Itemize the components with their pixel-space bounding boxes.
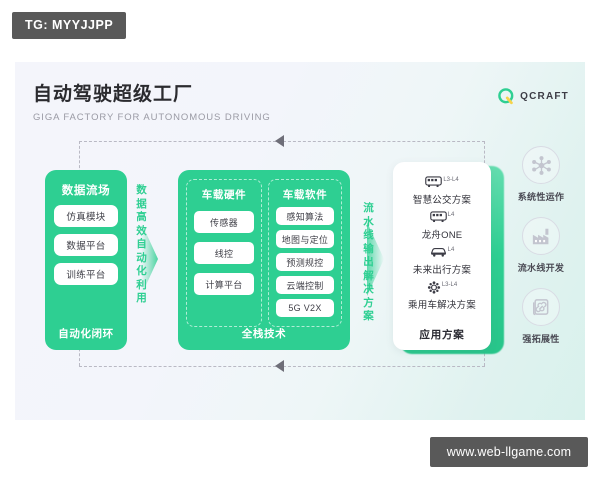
solution-name-1: 龙舟ONE xyxy=(393,227,491,241)
solution-name-0: 智慧公交方案 xyxy=(393,192,491,206)
solution-item-1[interactable]: L4 龙舟ONE xyxy=(393,211,491,241)
qcraft-q-icon xyxy=(498,88,515,105)
chip-hardware-1[interactable]: 线控 xyxy=(194,242,254,264)
solution-item-3[interactable]: L3-L4 乘用车解决方案 xyxy=(393,281,491,311)
panel-vehicle-stack-footer: 全栈技术 xyxy=(178,326,350,341)
chip-data-field-0[interactable]: 仿真模块 xyxy=(54,205,118,227)
slide-header: 自动驾驶超级工厂 GIGA FACTORY FOR AUTONOMOUS DRI… xyxy=(33,84,271,123)
solution-level-0: L3-L4 xyxy=(443,177,458,183)
solution-level-3: L3-L4 xyxy=(442,282,457,288)
page-title: 自动驾驶超级工厂 xyxy=(33,84,271,106)
brand-logo: QCRAFT xyxy=(498,88,569,105)
feature-label-0: 系统性运作 xyxy=(505,190,577,203)
brand-name: QCRAFT xyxy=(520,91,569,102)
chip-data-field-1[interactable]: 数据平台 xyxy=(54,234,118,256)
chip-hardware-2[interactable]: 计算平台 xyxy=(194,273,254,295)
feature-badge-2[interactable]: 强拓展性 xyxy=(505,288,577,345)
subpanel-software-title: 车载软件 xyxy=(269,187,341,202)
car-icon xyxy=(430,246,447,258)
page-subtitle: GIGA FACTORY FOR AUTONOMOUS DRIVING xyxy=(33,112,271,123)
subpanel-vehicle-software: 车载软件 感知算法 地图与定位 预测规控 云端控制 5G V2X xyxy=(268,179,342,327)
feature-badge-1[interactable]: 流水线开发 xyxy=(505,217,577,274)
factory-icon xyxy=(522,217,560,255)
feature-badge-0[interactable]: 系统性运作 xyxy=(505,146,577,203)
slide-root: TG: MYYJJPP 自动驾驶超级工厂 GIGA FACTORY FOR AU… xyxy=(0,0,600,480)
chip-software-3[interactable]: 云端控制 xyxy=(276,276,334,294)
feature-label-2: 强拓展性 xyxy=(505,332,577,345)
solution-item-0[interactable]: L3-L4 智慧公交方案 xyxy=(393,176,491,206)
chip-software-0[interactable]: 感知算法 xyxy=(276,207,334,225)
link-document-icon xyxy=(522,288,560,326)
arrow-left-icon xyxy=(275,135,284,147)
solutions-card-footer: 应用方案 xyxy=(393,327,491,342)
site-url-watermark: www.web-llgame.com xyxy=(430,437,588,467)
subpanel-hardware-title: 车载硬件 xyxy=(187,187,261,202)
chip-software-1[interactable]: 地图与定位 xyxy=(276,230,334,248)
solution-name-2: 未来出行方案 xyxy=(393,262,491,276)
infographic-slide: 自动驾驶超级工厂 GIGA FACTORY FOR AUTONOMOUS DRI… xyxy=(15,62,585,420)
vertical-label-left: 数 据 高 效 自 动 化 利 用 xyxy=(133,184,150,306)
arrow-left-icon xyxy=(275,360,284,372)
feature-label-1: 流水线开发 xyxy=(505,261,577,274)
chip-software-2[interactable]: 预测规控 xyxy=(276,253,334,271)
bus-icon xyxy=(425,176,442,188)
wheel-icon xyxy=(427,281,441,294)
solutions-card: L3-L4 智慧公交方案 xyxy=(393,162,491,350)
network-nodes-icon xyxy=(522,146,560,184)
panel-vehicle-stack: 车载硬件 传感器 线控 计算平台 车载软件 感知算法 地图与定位 预测规控 云端… xyxy=(178,170,350,350)
chip-software-4[interactable]: 5G V2X xyxy=(276,299,334,317)
vertical-label-right: 流 水 线 输 出 解 决 方 案 xyxy=(360,202,377,324)
panel-data-field-footer: 自动化闭环 xyxy=(45,326,127,341)
solution-name-3: 乘用车解决方案 xyxy=(393,297,491,311)
panel-data-field-title: 数据流场 xyxy=(45,182,127,198)
chip-hardware-0[interactable]: 传感器 xyxy=(194,211,254,233)
solution-item-2[interactable]: L4 未来出行方案 xyxy=(393,246,491,276)
solution-level-1: L4 xyxy=(448,212,455,218)
solution-level-2: L4 xyxy=(448,247,455,253)
panel-data-field: 数据流场 仿真模块 数据平台 训练平台 自动化闭环 xyxy=(45,170,127,350)
chip-data-field-2[interactable]: 训练平台 xyxy=(54,263,118,285)
bus-icon xyxy=(430,211,447,223)
tg-watermark-tag: TG: MYYJJPP xyxy=(12,12,126,39)
subpanel-vehicle-hardware: 车载硬件 传感器 线控 计算平台 xyxy=(186,179,262,327)
